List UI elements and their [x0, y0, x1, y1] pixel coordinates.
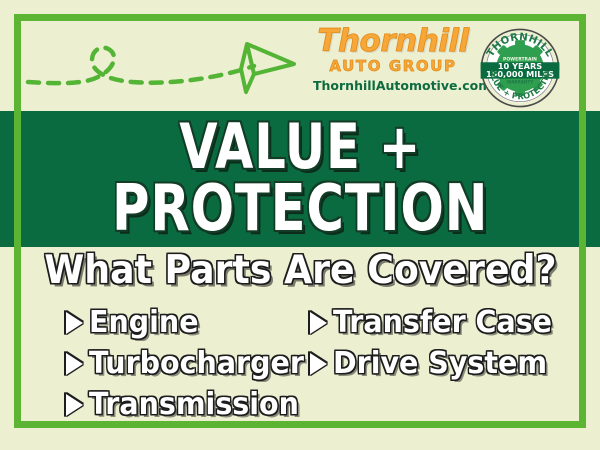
triangle-bullet-icon [310, 312, 327, 334]
seal-warranty-label: WARRANTY [507, 80, 533, 85]
part-label: Drive System [333, 347, 547, 381]
brand-website: ThornhillAutomotive.com [313, 78, 473, 93]
headline-line-1: VALUE + [179, 118, 421, 177]
parts-column-right: Transfer Case Drive System [310, 302, 564, 384]
poster-header: Thornhill AUTO GROUP ThornhillAutomotive… [0, 0, 600, 111]
headline-line-2: PROTECTION [112, 179, 488, 240]
headline: VALUE + PROTECTION [0, 111, 600, 247]
coverage-question: What Parts Are Covered? [44, 249, 556, 293]
list-item: Transmission [66, 384, 315, 425]
question-row: What Parts Are Covered? [0, 249, 600, 293]
warranty-seal-badge: THORNHILL POWERTRAIN 10 YEARS 150,000 MI… [479, 27, 561, 109]
list-item: Engine [66, 302, 315, 343]
triangle-bullet-icon [66, 312, 83, 334]
triangle-bullet-icon [66, 353, 83, 375]
list-item: Drive System [310, 343, 564, 384]
part-label: Transmission [89, 388, 299, 422]
part-label: Engine [89, 306, 199, 340]
dashed-arrow-doodle [22, 22, 312, 107]
part-label: Turbocharger [89, 347, 304, 381]
brand-name: Thornhill [313, 26, 473, 57]
covered-parts-list: Engine Turbocharger Transmission Transfe… [0, 302, 600, 426]
part-label: Transfer Case [333, 306, 552, 340]
triangle-bullet-icon [310, 353, 327, 375]
brand-subtitle: AUTO GROUP [313, 58, 473, 75]
parts-column-left: Engine Turbocharger Transmission [66, 302, 315, 425]
list-item: Transfer Case [310, 302, 564, 343]
brand-logo: Thornhill AUTO GROUP ThornhillAutomotive… [313, 26, 473, 93]
list-item: Turbocharger [66, 343, 315, 384]
promo-poster: Thornhill AUTO GROUP ThornhillAutomotive… [0, 0, 600, 450]
triangle-bullet-icon [66, 394, 83, 416]
